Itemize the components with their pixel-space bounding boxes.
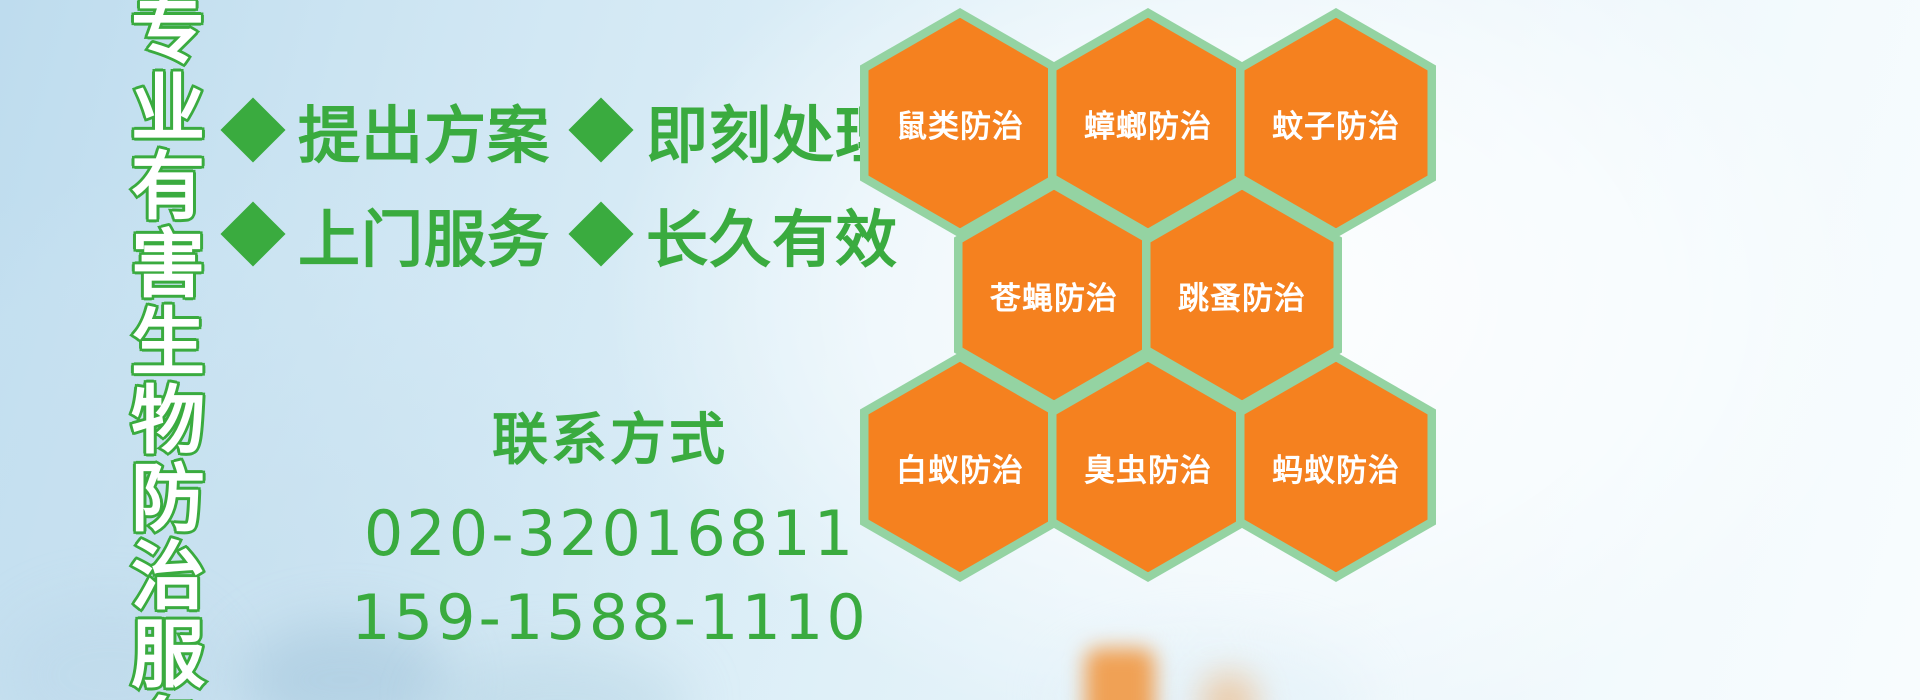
service-hex-ant[interactable]: 蚂蚁防治 bbox=[1236, 352, 1436, 582]
vertical-title-char: 服 bbox=[131, 616, 205, 694]
vertical-title-char: 有 bbox=[131, 148, 205, 226]
contact-label: 联系方式 bbox=[300, 395, 920, 476]
service-hex-label: 臭虫防治 bbox=[1048, 352, 1248, 582]
vertical-title-char: 专 bbox=[131, 0, 205, 70]
diamond-bullet-icon bbox=[220, 97, 285, 162]
vertical-title: 专 业 有 害 生 物 防 治 服 务 bbox=[112, 0, 224, 700]
vertical-title-char: 务 bbox=[131, 694, 205, 700]
service-hex-label: 蚂蚁防治 bbox=[1236, 352, 1436, 582]
service-hex-bedbug[interactable]: 臭虫防治 bbox=[1048, 352, 1248, 582]
diamond-bullet-icon bbox=[220, 201, 285, 266]
service-hex-grid: 鼠类防治 蟑螂防治 蚊子防治 苍蝇防治 跳蚤防治 白蚁防治 bbox=[860, 0, 1480, 700]
service-hex-termite[interactable]: 白蚁防治 bbox=[860, 352, 1060, 582]
feature-row: 提出方案 即刻处理 bbox=[230, 78, 870, 182]
diamond-bullet-icon bbox=[568, 201, 633, 266]
diamond-bullet-icon bbox=[568, 97, 633, 162]
contact-block: 联系方式 020-32016811 159-1588-1110 bbox=[300, 395, 920, 660]
vertical-title-char: 物 bbox=[131, 382, 205, 460]
vertical-title-char: 业 bbox=[131, 70, 205, 148]
feature-list: 提出方案 即刻处理 上门服务 长久有效 bbox=[230, 78, 870, 286]
pest-control-banner: 专 业 有 害 生 物 防 治 服 务 提出方案 即刻处理 上门服务 长久有效 … bbox=[0, 0, 1920, 700]
phone-number-mobile[interactable]: 159-1588-1110 bbox=[300, 576, 920, 660]
feature-label: 上门服务 bbox=[298, 189, 550, 279]
vertical-title-char: 害 bbox=[131, 226, 205, 304]
service-hex-label: 白蚁防治 bbox=[860, 352, 1060, 582]
feature-label: 提出方案 bbox=[298, 85, 550, 175]
vertical-title-char: 治 bbox=[131, 538, 205, 616]
vertical-title-char: 生 bbox=[131, 304, 205, 382]
feature-row: 上门服务 长久有效 bbox=[230, 182, 870, 286]
phone-number-landline[interactable]: 020-32016811 bbox=[300, 492, 920, 576]
vertical-title-char: 防 bbox=[131, 460, 205, 538]
